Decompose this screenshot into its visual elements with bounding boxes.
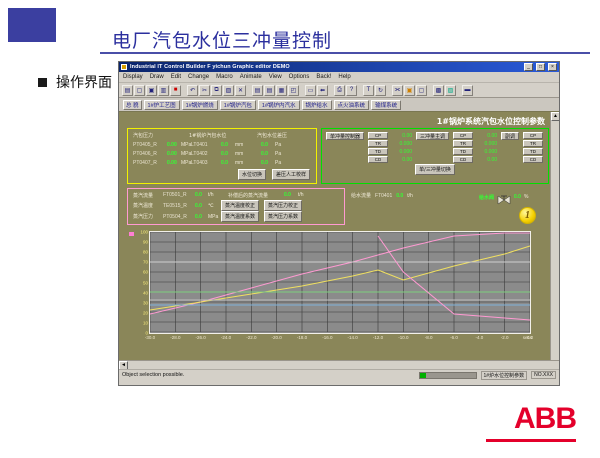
param-key-cp[interactable]: CP: [523, 132, 543, 139]
chart-x-tick: -20.0: [272, 335, 282, 340]
controller-parameter-group: 单冲量控制器 CP0.00 TR0.000 TD0.000 CD0.00 三冲量…: [321, 128, 549, 184]
header-spacer-2: [223, 132, 257, 139]
scroll-left-arrow[interactable]: ◄: [119, 361, 128, 369]
chart-y-tick: 80: [143, 250, 148, 255]
table-row: PT0405_R 0.00 MPa LT0401 0.0 mm 0.0 Pa: [128, 140, 316, 149]
menu-back[interactable]: Back!: [316, 74, 331, 80]
tab-drum[interactable]: 1#锅炉汽包: [220, 100, 256, 110]
trend-chart[interactable]: 1009080706050403020100 -30.0-28.0-26.0-2…: [127, 230, 539, 348]
unit-ft0501: t/h: [208, 192, 228, 198]
feedwater-valve-readout[interactable]: 给水阀 0.0 %: [479, 192, 528, 202]
dp-manual-cal-button[interactable]: 差压人工校样: [272, 169, 310, 180]
param-value-tr: 0.000: [475, 141, 497, 147]
label-steam-flow: 蒸汽流量: [133, 192, 163, 199]
table-row: PT0406_R 0.00 MPa LT0402 0.0 mm 0.0 Pa: [128, 149, 316, 158]
tag-lt0403: LT0403: [191, 160, 221, 166]
menu-draw[interactable]: Draw: [150, 74, 164, 80]
menu-help[interactable]: Help: [338, 74, 350, 80]
status-bar: Object selection possible. 1#炉水位控制参数 NO.…: [119, 369, 559, 380]
chart-x-tick: -6.0: [450, 335, 458, 340]
tab-boiler-process[interactable]: 1#炉工艺图: [144, 100, 180, 110]
tab-combustion[interactable]: 1#锅炉燃烧: [182, 100, 218, 110]
param-row: CP0.00: [453, 132, 497, 139]
rectangle-icon[interactable]: ▭: [305, 85, 316, 96]
window-title: Industrial IT Control Builder F yichun G…: [130, 64, 290, 70]
tag-pt0504: PT0504_R: [163, 214, 195, 220]
bullet-row: 操作界面: [38, 72, 112, 92]
menu-bar: Display Draw Edit Change Macro Animate V…: [119, 72, 559, 83]
single-impulse-controller-button[interactable]: 单冲量控制器: [326, 132, 364, 140]
minimize-button[interactable]: _: [524, 63, 533, 71]
param-row: TD0.000: [453, 148, 497, 155]
cut-icon[interactable]: ✂: [199, 85, 210, 96]
controller-slave: 副调: [501, 132, 519, 163]
controller-single-params: CP0.00 TR0.000 TD0.000 CD0.00: [368, 132, 412, 163]
arrow-left-icon[interactable]: ⬅: [317, 85, 328, 96]
param-value-tr: 0.000: [390, 141, 412, 147]
param-key-cp[interactable]: CP: [368, 132, 388, 139]
app-icon: [121, 64, 127, 70]
delete-icon[interactable]: ✕: [235, 85, 246, 96]
controller-three-impulse: 三冲量主调: [416, 132, 449, 163]
param-key-td[interactable]: TD: [453, 148, 473, 155]
controller-columns: 单冲量控制器 CP0.00 TR0.000 TD0.000 CD0.00 三冲量…: [322, 129, 548, 163]
value-pt0405: 0.00: [167, 142, 181, 148]
param-key-tr[interactable]: TR: [368, 140, 388, 147]
param-key-td[interactable]: TD: [523, 148, 543, 155]
text-icon[interactable]: T: [363, 85, 374, 96]
menu-view[interactable]: View: [269, 74, 282, 80]
color-icon[interactable]: ▣: [404, 85, 415, 96]
controller-single-impulse: 单冲量控制器: [326, 132, 364, 163]
align-right-icon[interactable]: ▤: [264, 85, 275, 96]
slave-controller-button[interactable]: 副调: [501, 132, 519, 140]
steam-parameter-group: 蒸汽流量 FT0501_R 0.0 t/h 补偿后的蒸汽流量 0.0 t/h 蒸…: [127, 188, 345, 225]
chart-x-tick: -12.0: [373, 335, 383, 340]
value-dp-2: 0.0: [261, 151, 275, 157]
help-icon[interactable]: ?: [346, 85, 357, 96]
menu-change[interactable]: Change: [188, 74, 209, 80]
slide-accent-square: [8, 8, 56, 42]
unit-dp-2: Pa: [275, 151, 281, 157]
chart-y-tick: 100: [140, 230, 148, 235]
param-value-cd: 0.00: [390, 157, 412, 163]
unit-te0515: ℃: [208, 203, 221, 209]
unit-lt0401: mm: [235, 142, 261, 148]
chart-grid: [150, 232, 530, 332]
chart-y-tick: 20: [143, 310, 148, 315]
param-value-cd: 0.00: [475, 157, 497, 163]
tab-steam-water[interactable]: 1#锅炉内汽水: [258, 100, 300, 110]
table-row: PT0407_R 0.00 MPa LT0403 0.0 mm 0.0 Pa: [128, 158, 316, 167]
unit-dp-3: Pa: [275, 160, 281, 166]
chart-y-tick: 30: [143, 300, 148, 305]
paste-icon[interactable]: ▧: [223, 85, 234, 96]
drum-level-group: 汽包压力 1#锅炉汽包水位 汽包水位差压 PT0405_R 0.00 MPa L…: [127, 128, 317, 184]
new-file-icon[interactable]: ▢: [134, 85, 145, 96]
stop-icon[interactable]: ■: [170, 85, 181, 96]
menu-macro[interactable]: Macro: [216, 74, 233, 80]
abb-logo: ABB: [514, 402, 576, 436]
unit-corrected-steam-flow: t/h: [298, 192, 304, 198]
chart-x-tick: -24.0: [221, 335, 231, 340]
param-row: TR0.000: [368, 140, 412, 147]
label-steam-pressure: 蒸汽压力: [133, 213, 163, 220]
controller-footer: 单/三冲量切换: [322, 164, 548, 175]
menu-display[interactable]: Display: [123, 74, 143, 80]
chart-y-tick: 70: [143, 260, 148, 265]
tool-bar: ▤ ▢ ▣ ▥ ■ ↶ ✂ ⧉ ▧ ✕ ▤ ▤ ▦ ◰ ▭ ⬅ ⎙ ? T ↻ …: [119, 83, 559, 98]
controller-three-params: CP0.00 TR0.000 TD0.000 CD0.00: [453, 132, 497, 163]
drum-level-headers: 汽包压力 1#锅炉汽包水位 汽包水位差压: [128, 129, 316, 140]
single-three-impulse-switch-button[interactable]: 单/三冲量切换: [415, 164, 455, 175]
link-icon[interactable]: ⫘: [392, 85, 403, 96]
status-progress-bar: [419, 372, 477, 379]
unit-feedwater-valve: %: [524, 194, 528, 200]
feedwater-flow-readout: 给水流量 FT0401 0.0 t/h: [351, 192, 413, 199]
param-row: TD0.000: [368, 148, 412, 155]
close-button[interactable]: ×: [548, 63, 557, 71]
chart-x-tick: -18.0: [297, 335, 307, 340]
value-lt0402: 0.0: [221, 151, 235, 157]
tab-coal-transport[interactable]: 输煤系统: [371, 100, 401, 110]
menu-animate[interactable]: Animate: [240, 74, 262, 80]
label-feedwater-valve: 给水阀: [479, 194, 494, 201]
chart-y-tick: 90: [143, 240, 148, 245]
chart-x-tick: -4.0: [475, 335, 483, 340]
unit-pt0407: MPa: [181, 160, 191, 166]
header-drum-pressure: 汽包压力: [133, 132, 167, 139]
param-row: CD0.00: [453, 156, 497, 163]
value-lt0401: 0.0: [221, 142, 235, 148]
chart-y-tick: 50: [143, 280, 148, 285]
value-pt0504: 0.0: [195, 214, 208, 220]
param-key-cd[interactable]: CD: [523, 156, 543, 163]
undo-icon[interactable]: ↶: [187, 85, 198, 96]
param-row: CP0.00: [368, 132, 412, 139]
canvas-horizontal-scrollbar[interactable]: ◄: [119, 360, 559, 369]
label-feedwater-flow: 给水流量: [351, 192, 371, 199]
param-key-cp[interactable]: CP: [453, 132, 473, 139]
param-row: TR0.000: [453, 140, 497, 147]
unit-dp-1: Pa: [275, 142, 281, 148]
chart-x-tick: -2.0: [501, 335, 509, 340]
chart-x-axis-unit: secs: [523, 335, 532, 340]
status-message: Object selection possible.: [122, 372, 184, 378]
menu-options[interactable]: Options: [289, 74, 310, 80]
page-title: 电厂汽包水位三冲量控制: [112, 26, 332, 53]
chart-plot-area: 1009080706050403020100 -30.0-28.0-26.0-2…: [149, 231, 531, 334]
valve-icon[interactable]: [497, 192, 511, 202]
param-key-cd[interactable]: CD: [368, 156, 388, 163]
chart-x-tick: -30.0: [145, 335, 155, 340]
tag-ft0401: FT0401: [375, 193, 392, 199]
chart-x-tick: -22.0: [246, 335, 256, 340]
value-lt0403: 0.0: [221, 160, 235, 166]
chart-y-tick: 10: [143, 320, 148, 325]
param-key-tr[interactable]: TR: [523, 140, 543, 147]
tag-pt0407: PT0407_R: [133, 160, 167, 166]
steam-temp-correction-button[interactable]: 蒸汽温度校正: [221, 200, 259, 211]
bullet-label: 操作界面: [56, 72, 112, 92]
frame-icon[interactable]: ▢: [416, 85, 427, 96]
tag-te0515: TE0515_R: [163, 203, 195, 209]
print-preview-icon[interactable]: ▥: [158, 85, 169, 96]
tab-ignition-oil[interactable]: 点火油系统: [334, 100, 370, 110]
tab-overview[interactable]: 总 貌: [123, 100, 142, 110]
steam-pressure-correction-button[interactable]: 蒸汽压力校正: [264, 200, 302, 211]
value-dp-1: 0.0: [261, 142, 275, 148]
graphic-canvas[interactable]: 1#锅炉系统汽包水位控制参数 汽包压力 1#锅炉汽包水位 汽包水位差压 PT04…: [119, 111, 559, 369]
unit-pt0504: MPa: [208, 214, 221, 220]
value-feedwater-valve: 0.0: [514, 194, 521, 200]
value-te0515: 0.0: [195, 203, 208, 209]
chart-x-tick: -28.0: [170, 335, 180, 340]
value-corrected-steam-flow: 0.0: [284, 192, 298, 198]
panel-title: 1#锅炉系统汽包水位控制参数: [437, 116, 545, 127]
tag-ft0501: FT0501_R: [163, 192, 195, 198]
chart-x-tick: -10.0: [398, 335, 408, 340]
fullscreen-icon[interactable]: ◰: [288, 85, 299, 96]
align-left-icon[interactable]: ▤: [252, 85, 263, 96]
param-key-cd[interactable]: CD: [453, 156, 473, 163]
macro-icon[interactable]: ▨: [445, 85, 456, 96]
chart-x-tick: -26.0: [196, 335, 206, 340]
value-dp-3: 0.0: [261, 160, 275, 166]
open-folder-icon[interactable]: ▤: [122, 85, 133, 96]
chart-x-tick: -16.0: [322, 335, 332, 340]
param-key-td[interactable]: TD: [368, 148, 388, 155]
label-steam-temp: 蒸汽温度: [133, 202, 163, 209]
refresh-icon[interactable]: ↻: [375, 85, 386, 96]
unit-pt0406: MPa: [181, 151, 191, 157]
level-switch-button[interactable]: 水位切换: [238, 169, 266, 180]
navigation-tab-bar: 总 貌 1#炉工艺图 1#锅炉燃烧 1#锅炉汽包 1#锅炉内汽水 锅炉给水 点火…: [119, 98, 559, 111]
maximize-button[interactable]: □: [536, 63, 545, 71]
param-value-cp: 0.00: [475, 133, 497, 139]
grid-icon[interactable]: ▦: [276, 85, 287, 96]
unit-pt0405: MPa: [181, 142, 191, 148]
steam-pressure-coefficient-button[interactable]: 蒸汽压力系数: [264, 211, 302, 222]
param-key-tr[interactable]: TR: [453, 140, 473, 147]
unit-lt0403: mm: [235, 160, 261, 166]
tab-feedwater[interactable]: 锅炉给水: [302, 100, 332, 110]
chart-x-tick: -8.0: [425, 335, 433, 340]
bullet-square-icon: [38, 78, 47, 87]
print-icon[interactable]: ⎙: [334, 85, 345, 96]
chart-x-tick: -14.0: [348, 335, 358, 340]
title-divider: [100, 52, 590, 54]
param-row: CD0.00: [368, 156, 412, 163]
application-window: Industrial IT Control Builder F yichun G…: [118, 61, 560, 386]
chart-y-tick: 60: [143, 270, 148, 275]
param-value-td: 0.000: [390, 149, 412, 155]
label-corrected-steam-flow: 补偿后的蒸汽流量: [228, 192, 284, 199]
value-pt0406: 0.00: [167, 151, 181, 157]
value-ft0401: 0.0: [396, 193, 403, 199]
unit-ft0401: t/h: [407, 193, 413, 199]
table-row: 蒸汽温度 TE0515_R 0.0 ℃ 蒸汽温度校正 蒸汽压力校正: [128, 200, 344, 211]
status-page-name: 1#炉水位控制参数: [481, 371, 528, 380]
drum-level-buttons: 水位切换 差压人工校样: [128, 167, 316, 180]
tag-pt0406: PT0406_R: [133, 151, 167, 157]
value-ft0501: 0.0: [195, 192, 208, 198]
chart-legend-marker: [129, 232, 134, 236]
value-pt0407: 0.00: [167, 160, 181, 166]
three-impulse-master-button[interactable]: 三冲量主调: [416, 132, 449, 140]
status-page-number: NO.XXX: [531, 371, 556, 379]
menu-edit[interactable]: Edit: [171, 74, 181, 80]
unit-lt0402: mm: [235, 151, 261, 157]
status-badge[interactable]: 1: [519, 207, 536, 224]
table-row: 蒸汽流量 FT0501_R 0.0 t/h 补偿后的蒸汽流量 0.0 t/h: [128, 189, 344, 200]
window-titlebar[interactable]: Industrial IT Control Builder F yichun G…: [119, 62, 559, 72]
tag-lt0401: LT0401: [191, 142, 221, 148]
block-icon[interactable]: ▬: [462, 85, 473, 96]
canvas-vertical-scrollbar[interactable]: ▲: [550, 112, 559, 369]
abb-logo-underline: [486, 439, 576, 442]
library-icon[interactable]: ▩: [433, 85, 444, 96]
param-value-td: 0.000: [475, 149, 497, 155]
table-row: 蒸汽压力 PT0504_R 0.0 MPa 蒸汽温度系数 蒸汽压力系数: [128, 211, 344, 222]
header-drum-level: 1#锅炉汽包水位: [189, 132, 223, 139]
scroll-up-arrow[interactable]: ▲: [551, 112, 559, 121]
header-spacer: [167, 132, 189, 139]
tag-lt0402: LT0402: [191, 151, 221, 157]
tag-pt0405: PT0405_R: [133, 142, 167, 148]
header-level-dp: 汽包水位差压: [257, 132, 287, 139]
copy-icon[interactable]: ⧉: [211, 85, 222, 96]
steam-temp-coefficient-button[interactable]: 蒸汽温度系数: [221, 211, 259, 222]
save-icon[interactable]: ▣: [146, 85, 157, 96]
param-value-cp: 0.00: [390, 133, 412, 139]
chart-y-tick: 40: [143, 290, 148, 295]
